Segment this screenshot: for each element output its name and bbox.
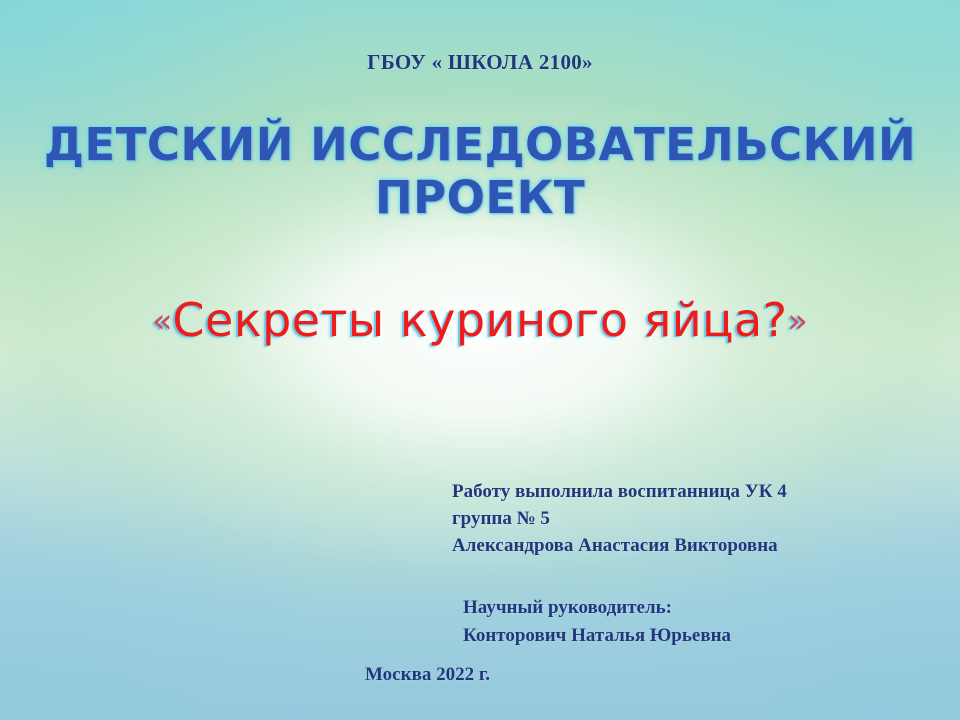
presentation-slide: ГБОУ « ШКОЛА 2100» ДЕТСКИЙ ИССЛЕДОВАТЕЛЬ…	[0, 0, 960, 720]
credits-line-3: Александрова Анастасия Викторовна	[452, 532, 922, 559]
subtitle-text: Секреты куриного яйца?	[172, 293, 787, 347]
author-credits: Работу выполнила воспитанница УК 4 групп…	[452, 478, 922, 559]
place-and-year: Москва 2022 г.	[365, 664, 490, 686]
credits-line-2: группа № 5	[452, 505, 922, 532]
open-guillemet: «	[152, 301, 172, 340]
advisor-name: Конторович Наталья Юрьевна	[458, 622, 928, 650]
title-line-2: ПРОЕКТ	[40, 171, 920, 224]
school-name-header: ГБОУ « ШКОЛА 2100»	[0, 50, 960, 75]
close-guillemet: »	[788, 301, 808, 340]
advisor-credits: Научный руководитель: Конторович Наталья…	[458, 594, 928, 650]
page-title: ДЕТСКИЙ ИССЛЕДОВАТЕЛЬСКИЙ ПРОЕКТ	[40, 118, 920, 224]
credits-line-1: Работу выполнила воспитанница УК 4	[452, 478, 922, 505]
project-subtitle: «Секреты куриного яйца?»	[40, 293, 920, 348]
title-line-1: ДЕТСКИЙ ИССЛЕДОВАТЕЛЬСКИЙ	[40, 118, 920, 171]
advisor-label: Научный руководитель:	[458, 594, 928, 622]
